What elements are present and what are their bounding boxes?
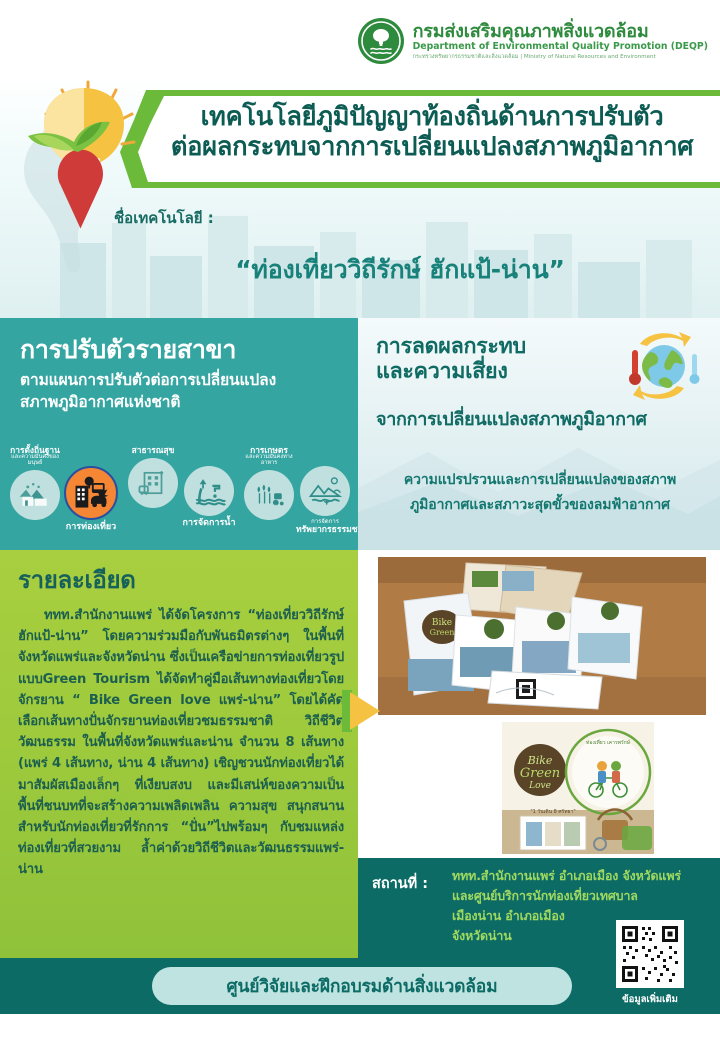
svg-text:Love: Love [528, 781, 551, 791]
main-title: เทคโนโลยีภูมิปัญญาท้องถิ่นด้านการปรับตัว… [162, 102, 702, 162]
sector-label-tourism: การท่องเที่ยว [62, 523, 120, 532]
adaptation-heading: การปรับตัวรายสาขา [20, 336, 344, 364]
sector-label-agriculture: การเกษตร และความมั่นคงทางอาหาร [240, 446, 298, 467]
svg-text:"1 วันเดิน 8 ศรัทธา": "1 วันเดิน 8 ศรัทธา" [530, 808, 575, 815]
location-line1: ททท.สำนักงานแพร่ อำเภอเมือง จังหวัดแพร่ [452, 866, 688, 886]
hero-banner-section: เทคโนโลยีภูมิปัญญาท้องถิ่นด้านการปรับตัว… [0, 78, 720, 318]
bike-green-love-poster-photo: Bike Green Love ท่องเที่ยว เคารพรักษ์ "1… [498, 718, 706, 858]
main-title-banner: เทคโนโลยีภูมิปัญญาท้องถิ่นด้านการปรับตัว… [120, 90, 720, 188]
sector-item-tourism[interactable]: การท่องเที่ยว [62, 466, 120, 532]
footer-organization: ศูนย์วิจัยและฝึกอบรมด้านสิ่งแวดล้อม [152, 967, 572, 1005]
adaptation-panel: การปรับตัวรายสาขา ตามแผนการปรับตัวต่อการ… [0, 318, 358, 550]
mitigation-body: ความแปรปรวนและการเปลี่ยนแปลงของสภาพ ภูมิ… [374, 468, 706, 517]
svg-text:Green: Green [430, 628, 455, 637]
page-header: กรมส่งเสริมคุณภาพสิ่งแวดล้อม Department … [0, 0, 720, 78]
mid-section: การปรับตัวรายสาขา ตามแผนการปรับตัวต่อการ… [0, 318, 720, 550]
technology-label: ชื่อเทคโนโลยี : [114, 206, 214, 230]
adaptation-subheading-line2: สภาพภูมิอากาศแห่งชาติ [20, 391, 344, 413]
settlement-houses-icon [10, 470, 60, 520]
org-name-english: Department of Environmental Quality Prom… [413, 42, 708, 52]
technology-name: “ท่องเที่ยววิถีรักษ์ ฮักแป้-น่าน” [140, 250, 660, 290]
sector-item-agriculture[interactable]: การเกษตร และความมั่นคงทางอาหาร [240, 446, 298, 520]
adaptation-subheading-line1: ตามแผนการปรับตัวต่อการเปลี่ยนแปลง [20, 369, 344, 391]
water-management-tap-icon [184, 466, 234, 516]
deqp-logo: กรมส่งเสริมคุณภาพสิ่งแวดล้อม Department … [358, 18, 708, 64]
svg-text:ท่องเที่ยว เคารพรักษ์: ท่องเที่ยว เคารพรักษ์ [586, 739, 631, 746]
sector-label-water-management: การจัดการน้ำ [180, 519, 238, 528]
globe-thermometer-icon [618, 330, 706, 402]
location-line2: และศูนย์บริการนักท่องเที่ยวเทศบาล [452, 886, 688, 906]
arrow-right-triangle-icon [340, 688, 382, 734]
mitigation-subheading: จากการเปลี่ยนแปลงสภาพภูมิอากาศ [376, 404, 647, 433]
detail-body-text: ททท.สำนักงานแพร่ ได้จัดโครงการ “ท่องเที่… [18, 605, 344, 881]
org-name-thai: กรมส่งเสริมคุณภาพสิ่งแวดล้อม [413, 22, 708, 41]
mitigation-panel: การลดผลกระทบ และความเสี่ยง จากการเปลี่ยน… [358, 318, 720, 550]
sector-icon-row: การตั้งถิ่นฐาน และความมั่นคงของมนุษย์ [6, 446, 354, 546]
sector-item-water-management[interactable]: การจัดการน้ำ [180, 466, 238, 528]
page-footer: ศูนย์วิจัยและฝึกอบรมด้านสิ่งแวดล้อม [0, 958, 720, 1040]
mitigation-heading-line2: และความเสี่ยง [376, 359, 526, 384]
deqp-logo-text: กรมส่งเสริมคุณภาพสิ่งแวดล้อม Department … [413, 22, 708, 61]
sector-item-settlement[interactable]: การตั้งถิ่นฐาน และความมั่นคงของมนุษย์ [6, 446, 64, 520]
sector-item-natural-resources[interactable]: การจัดการ ทรัพยากรธรรมชาติ [296, 466, 354, 535]
tourism-city-bus-icon [64, 466, 118, 520]
public-health-hospital-icon [128, 458, 178, 508]
adaptation-subheading: ตามแผนการปรับตัวต่อการเปลี่ยนแปลง สภาพภู… [20, 369, 344, 413]
agriculture-wheat-tractor-icon [244, 470, 294, 520]
mitigation-body-line1: ความแปรปรวนและการเปลี่ยนแปลงของสภาพ [374, 468, 706, 493]
org-ministry-line: กระทรวงทรัพยากรธรรมชาติและสิ่งแวดล้อม | … [413, 54, 708, 60]
natural-resources-mountain-icon [300, 466, 350, 516]
sector-item-public-health[interactable]: สาธารณสุข [124, 446, 182, 508]
sector-label-public-health: สาธารณสุข [124, 446, 182, 455]
mitigation-body-line2: ภูมิอากาศและสภาวะสุดขั้วของลมฟ้าอากาศ [374, 493, 706, 518]
detail-panel: รายละเอียด ททท.สำนักงานแพร่ ได้จัดโครงกา… [0, 550, 358, 958]
sector-label-settlement: การตั้งถิ่นฐาน และความมั่นคงของมนุษย์ [6, 446, 64, 467]
qr-code-icon[interactable] [616, 920, 684, 988]
svg-text:Bike: Bike [432, 618, 452, 628]
detail-heading: รายละเอียด [18, 560, 344, 599]
deqp-tree-water-logo-icon [358, 18, 404, 64]
main-title-line2: ต่อผลกระทบจากการเปลี่ยนแปลงสภาพภูมิอากาศ [162, 132, 702, 162]
main-title-line1: เทคโนโลยีภูมิปัญญาท้องถิ่นด้านการปรับตัว [162, 102, 702, 132]
sector-label-natural-resources: การจัดการ ทรัพยากรธรรมชาติ [296, 519, 354, 535]
cold-thermometer [690, 354, 700, 384]
infographic-poster: กรมส่งเสริมคุณภาพสิ่งแวดล้อม Department … [0, 0, 720, 1040]
brochures-on-table-photo: Bike Green [378, 557, 706, 715]
mitigation-heading: การลดผลกระทบ และความเสี่ยง [376, 334, 526, 385]
svg-text:Green: Green [520, 766, 560, 781]
location-label: สถานที่ : [372, 872, 428, 895]
qr-caption: ข้อมูลเพิ่มเติม [606, 992, 694, 1007]
hot-thermometer [629, 350, 641, 385]
mitigation-heading-line1: การลดผลกระทบ [376, 334, 526, 359]
